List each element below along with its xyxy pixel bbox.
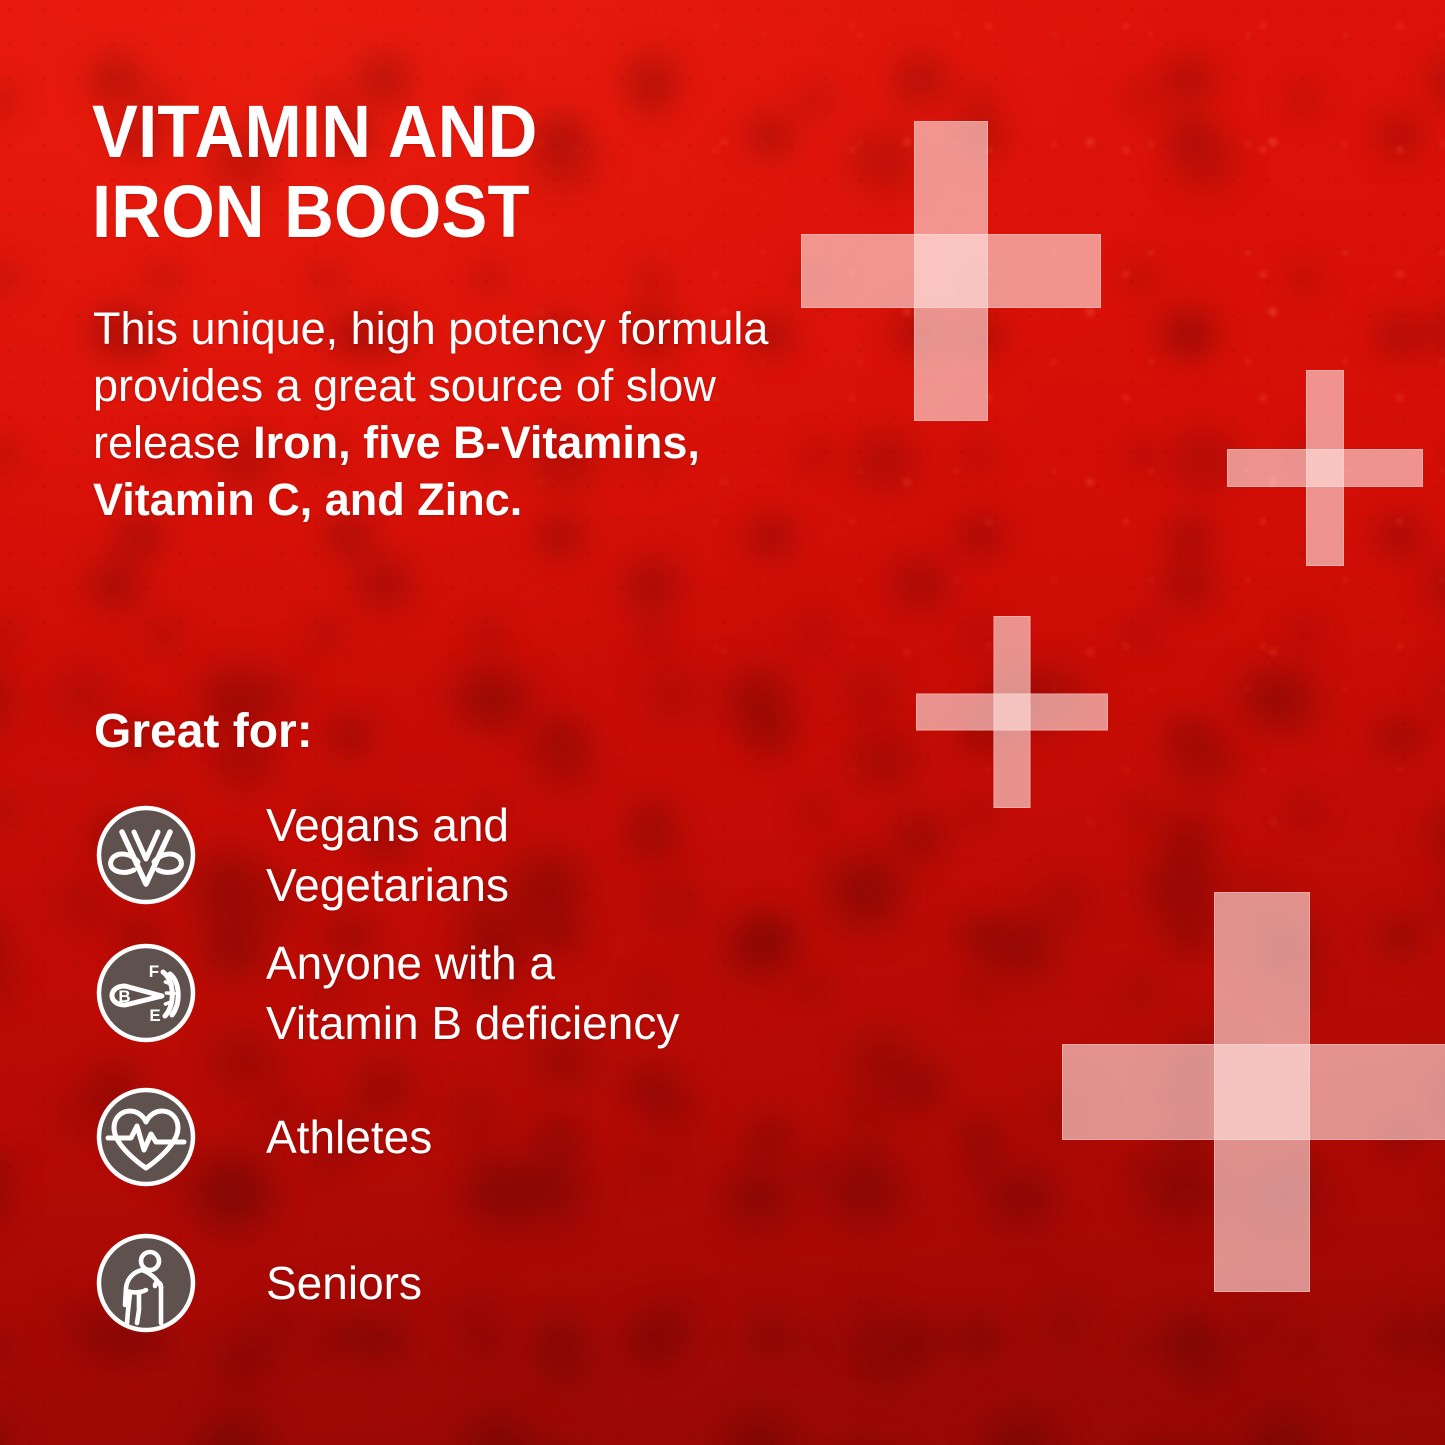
svg-text:E: E xyxy=(149,1006,160,1025)
svg-text:B: B xyxy=(118,987,130,1006)
svg-text:F: F xyxy=(149,962,159,981)
list-item-label: Seniors xyxy=(266,1253,422,1313)
page-title: VITAMIN AND IRON BOOST xyxy=(92,92,799,252)
heartbeat-icon xyxy=(94,1085,198,1189)
list-item: Vegans and Vegetarians xyxy=(94,803,894,907)
description-paragraph: This unique, high potency formula provid… xyxy=(93,300,793,528)
list-item-label: Athletes xyxy=(266,1107,432,1167)
list-item: B F E Anyone with a Vitamin B deficiency xyxy=(94,941,894,1045)
great-for-heading: Great for: xyxy=(94,704,313,760)
product-feature-panel: VITAMIN AND IRON BOOST This unique, high… xyxy=(0,0,1445,1445)
senior-with-cane-icon xyxy=(94,1231,198,1335)
list-item-label: Vegans and Vegetarians xyxy=(266,795,509,915)
vitamin-b-gauge-icon: B F E xyxy=(94,941,198,1045)
list-item: Seniors xyxy=(94,1231,894,1335)
list-item-label: Anyone with a Vitamin B deficiency xyxy=(266,933,679,1053)
vegan-leaf-icon xyxy=(94,803,198,907)
list-item: Athletes xyxy=(94,1085,894,1189)
